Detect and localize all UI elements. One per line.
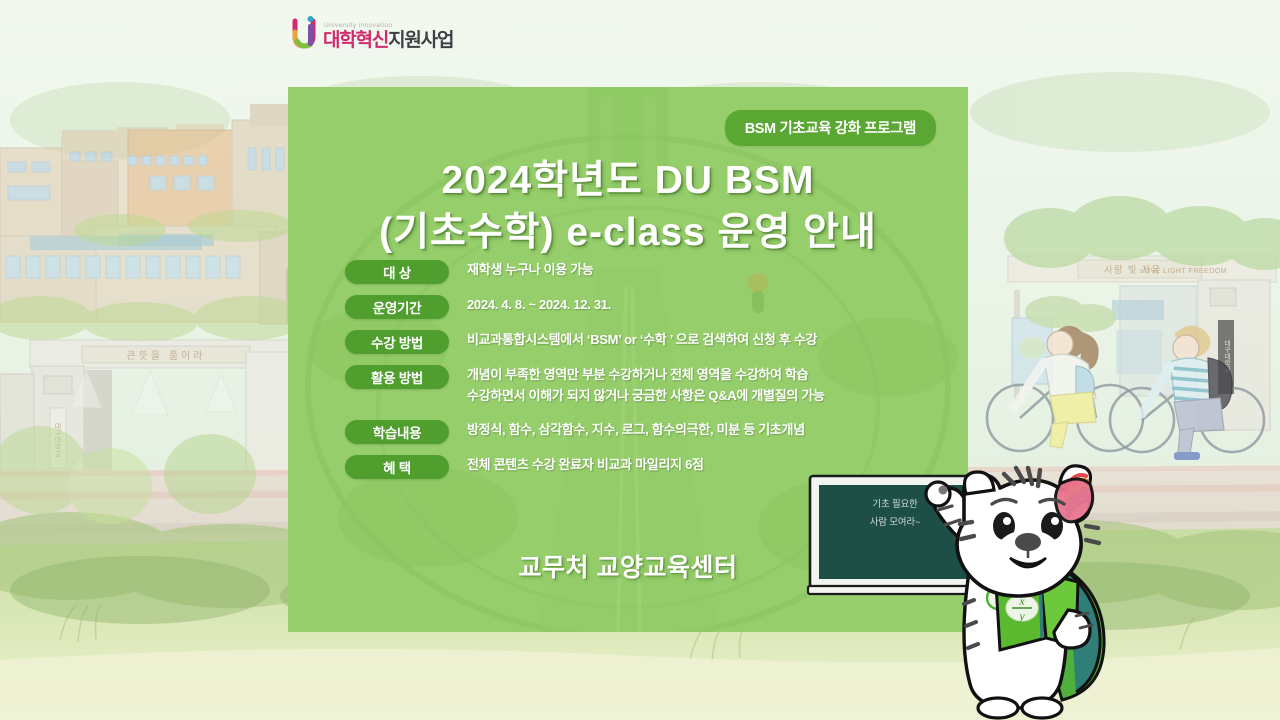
logo-english-text: University innovation (324, 23, 453, 30)
info-row-target: 대 상 재학생 누구나 이용 가능 (345, 259, 945, 284)
row-label-enroll-method: 수강 방법 (345, 330, 449, 354)
info-row-usage-method: 활용 방법 개념이 부족한 영역만 부분 수강하거나 전체 영역을 수강하여 학… (345, 364, 945, 406)
book-label-y: y (1018, 609, 1025, 623)
row-value-enroll-method: 비교과통합시스템에서 ‘BSM’ or ‘수학 ’ 으로 검색하여 신청 후 수… (467, 329, 817, 350)
row-label-contents: 학습내용 (345, 420, 449, 444)
title-line-1: 2024학년도 DU BSM (288, 155, 968, 207)
info-row-enroll-method: 수강 방법 비교과통합시스템에서 ‘BSM’ or ‘수학 ’ 으로 검색하여 … (345, 329, 945, 354)
row-value-contents: 방정식, 함수, 삼각함수, 지수, 로그, 함수의극한, 미분 등 기초개념 (467, 419, 805, 440)
white-tiger-mascot: x y (900, 440, 1130, 720)
logo-mark-icon (292, 14, 318, 50)
right-gate-sign-en: LOVE LIGHT FREEDOM (1140, 268, 1227, 275)
row-value-benefit: 전체 콘텐츠 수강 완료자 비교과 마일리지 6점 (467, 454, 704, 475)
university-innovation-logo: University innovation 대학혁신지원사업 (292, 14, 453, 50)
logo-korean-pink: 대학혁신 (323, 30, 388, 51)
info-row-period: 운영기간 2024. 4. 8. ~ 2024. 12. 31. (345, 294, 945, 319)
row-label-target: 대 상 (345, 260, 449, 284)
row-value-target: 재학생 누구나 이용 가능 (467, 259, 594, 280)
row-label-benefit: 혜 택 (345, 455, 449, 479)
logo-korean-dark: 지원사업 (388, 30, 453, 51)
title-line-2: (기초수학) e-class 운영 안내 (288, 207, 968, 259)
row-label-usage-method: 활용 방법 (345, 365, 449, 389)
program-badge: BSM 기초교육 강화 프로그램 (725, 110, 936, 146)
row-value-usage-method: 개념이 부족한 영역만 부분 수강하거나 전체 영역을 수강하여 학습 수강하면… (467, 364, 825, 406)
info-row-contents: 학습내용 방정식, 함수, 삼각함수, 지수, 로그, 함수의극한, 미분 등 … (345, 419, 945, 444)
row-label-period: 운영기간 (345, 295, 449, 319)
left-gate-sign-text: 큰뜻을 품어라 (127, 350, 206, 362)
info-rows: 대 상 재학생 누구나 이용 가능 운영기간 2024. 4. 8. ~ 202… (345, 259, 945, 489)
row-value-period: 2024. 4. 8. ~ 2024. 12. 31. (467, 294, 611, 315)
poster-title: 2024학년도 DU BSM (기초수학) e-class 운영 안내 (288, 155, 968, 259)
